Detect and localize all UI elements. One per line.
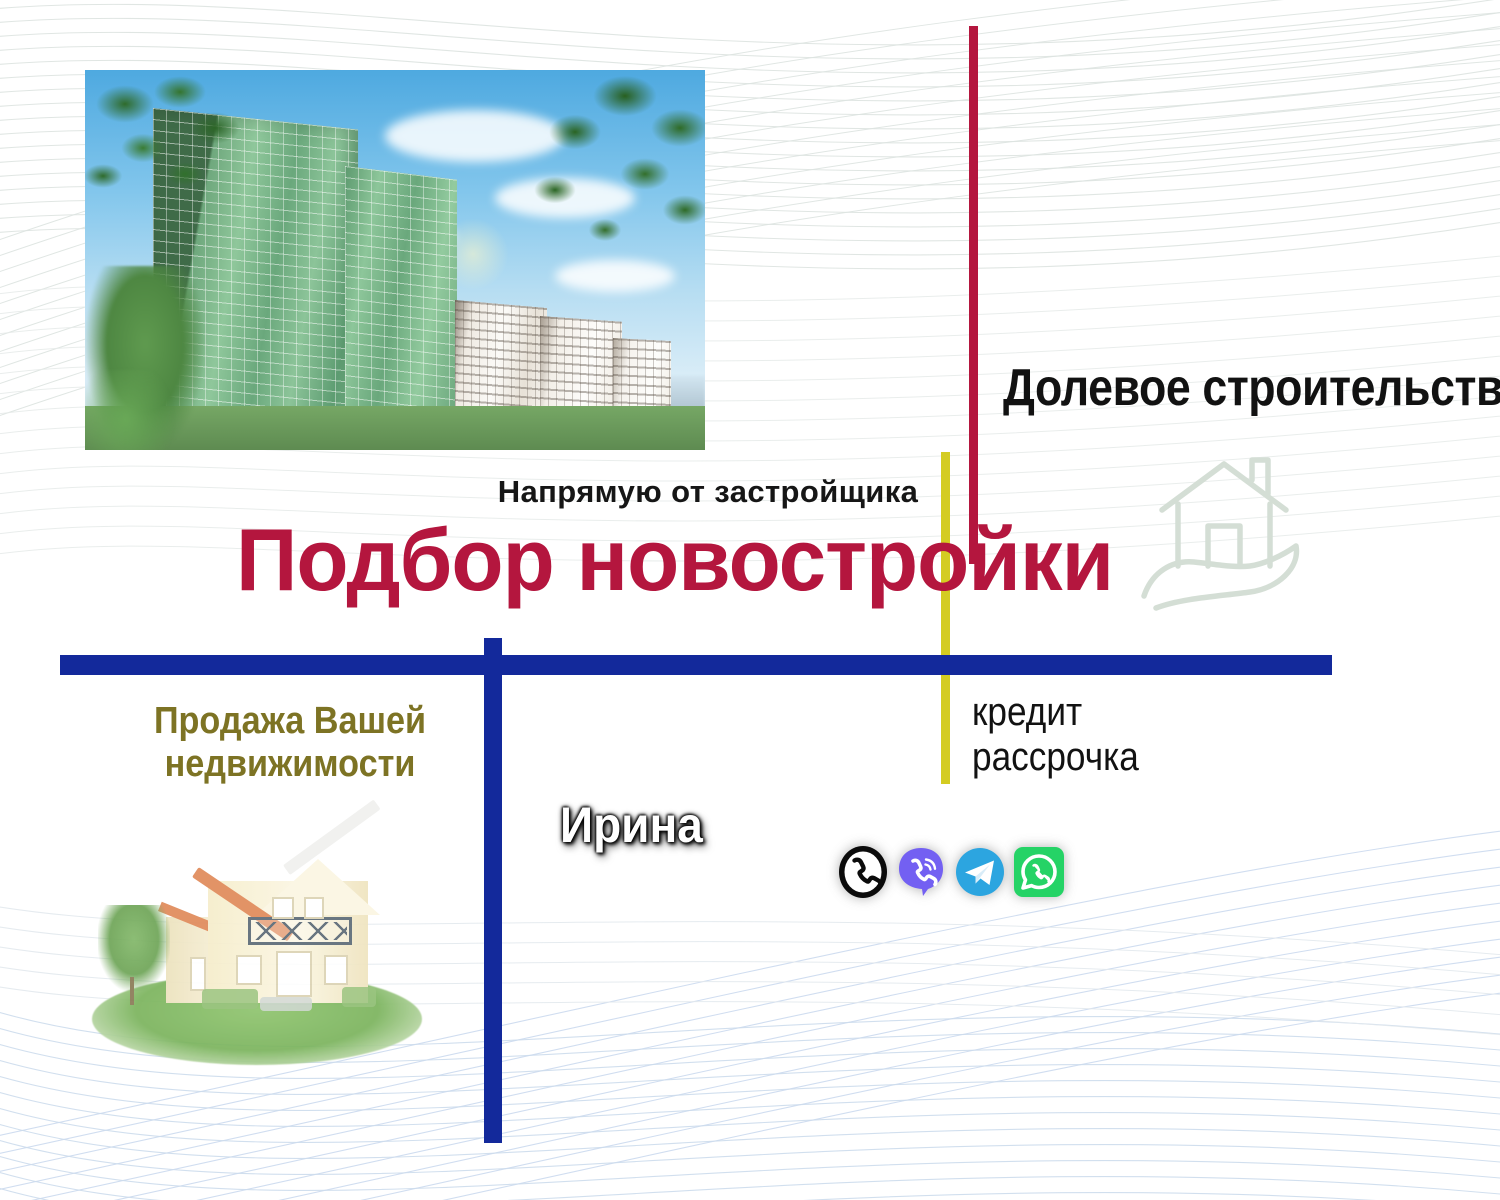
finance-options: кредит рассрочка xyxy=(972,690,1139,780)
photo-tree-left-lower xyxy=(85,370,175,450)
finance-installment: рассрочка xyxy=(972,735,1139,779)
subtitle-direct-from-developer: Напрямую от застройщика xyxy=(483,474,933,510)
cottage-window xyxy=(304,897,324,919)
poster-canvas: Напрямую от застройщика Подбор новострой… xyxy=(0,0,1500,1200)
cottage-balcony xyxy=(248,917,352,945)
cottage-planter xyxy=(260,997,312,1011)
whatsapp-icon[interactable] xyxy=(1013,846,1065,898)
sell-line-2: недвижимости xyxy=(165,743,416,785)
agent-name: Ирина xyxy=(560,796,703,854)
cottage-hedge xyxy=(342,987,376,1007)
cottage-window xyxy=(236,955,262,985)
divider-horizontal-blue xyxy=(60,655,1332,675)
cottage-window xyxy=(190,957,206,991)
service-shared-construction: Долевое строительство xyxy=(1003,358,1390,418)
page-title: Подбор новостройки xyxy=(236,516,927,604)
cottage-house-photo xyxy=(80,845,430,1070)
divider-vertical-yellow xyxy=(941,452,950,784)
cottage-window xyxy=(272,897,294,919)
cottage-tree-trunk xyxy=(130,977,134,1005)
divider-vertical-blue xyxy=(484,638,502,1143)
cottage-door xyxy=(276,951,312,997)
photo-foliage-top-left xyxy=(85,70,295,220)
sell-line-1: Продажа Вашей xyxy=(154,700,426,742)
new-building-photo xyxy=(85,70,705,450)
cottage-hedge xyxy=(202,989,258,1009)
divider-vertical-crimson xyxy=(969,26,978,564)
telegram-icon[interactable] xyxy=(954,846,1006,898)
cottage-window xyxy=(324,955,348,985)
finance-credit: кредит xyxy=(972,690,1082,734)
service-sell-your-property: Продажа Вашей недвижимости xyxy=(137,700,443,786)
house-in-hand-icon xyxy=(1138,448,1308,613)
phone-icon[interactable] xyxy=(838,845,888,899)
cottage-tree xyxy=(98,905,170,991)
contact-icons-row xyxy=(838,845,1065,899)
photo-foliage-top-right xyxy=(435,70,705,280)
viber-icon[interactable] xyxy=(895,846,947,898)
